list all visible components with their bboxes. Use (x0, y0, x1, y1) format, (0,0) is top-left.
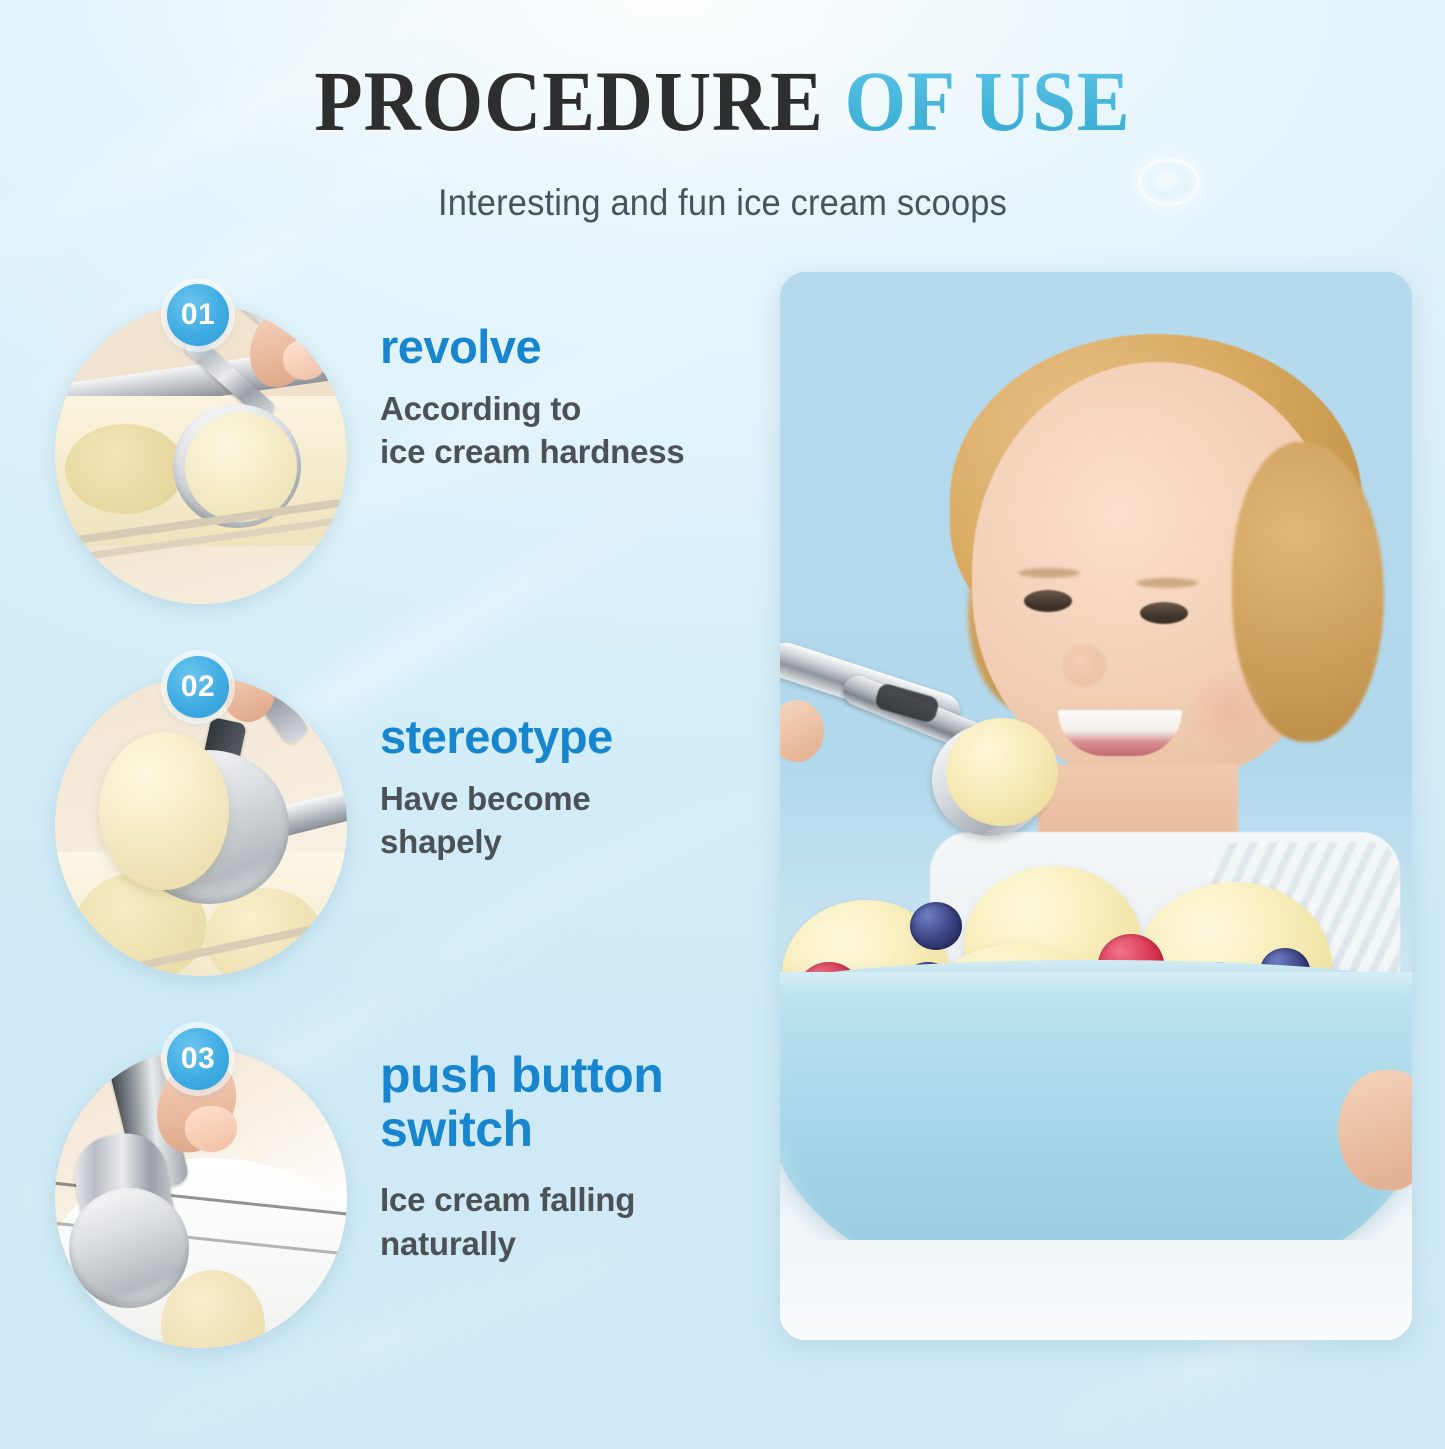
step-heading-03: push button switch (380, 1048, 760, 1156)
step-body-line: Ice cream falling (380, 1178, 760, 1222)
hero-blueberry (910, 902, 962, 950)
step-text-01: revolve According to ice cream hardness (380, 322, 760, 474)
step-item: 02 stereotype Have become shapely (0, 634, 770, 1006)
step-heading-01: revolve (380, 322, 760, 373)
step-badge-03: 03 (167, 1028, 229, 1090)
step-body-03: Ice cream falling naturally (380, 1178, 760, 1265)
steps-list: 01 revolve According to ice cream hardne… (0, 262, 770, 1378)
hero-scoop-ice-cream (946, 718, 1058, 826)
step-badge-02: 02 (167, 656, 229, 718)
step-item: 03 push button switch Ice cream falling … (0, 1006, 770, 1378)
step-heading-line: switch (380, 1102, 760, 1156)
infographic-canvas: PROCEDURE OF USE Interesting and fun ice… (0, 0, 1445, 1449)
hero-image-child-with-ice-cream (780, 272, 1412, 1340)
page-title: PROCEDURE OF USE (58, 58, 1387, 144)
step-heading-line: push button (380, 1048, 760, 1102)
step-body-line: ice cream hardness (380, 430, 760, 474)
step-badge-01: 01 (167, 284, 229, 346)
step-photo-stereotype (55, 676, 347, 976)
step-body-line: naturally (380, 1222, 760, 1266)
step-body-02: Have become shapely (380, 777, 760, 864)
hero-eye-left (1024, 590, 1072, 612)
page-title-blue: OF USE (844, 53, 1130, 149)
page-subtitle: Interesting and fun ice cream scoops (51, 182, 1395, 224)
step-item: 01 revolve According to ice cream hardne… (0, 262, 770, 634)
step-body-line: shapely (380, 820, 760, 864)
step-body-01: According to ice cream hardness (380, 387, 760, 474)
step-photo-wrapper: 01 (55, 304, 347, 604)
step-body-line: Have become (380, 777, 760, 821)
step-photo-wrapper: 02 (55, 676, 347, 976)
step-text-02: stereotype Have become shapely (380, 712, 760, 864)
step-photo-push-button-switch (55, 1048, 347, 1348)
step-photo-wrapper: 03 (55, 1048, 347, 1348)
hero-nose (1062, 644, 1106, 686)
step-heading-02: stereotype (380, 712, 760, 763)
step-body-line: According to (380, 387, 760, 431)
page-title-dark: PROCEDURE (314, 53, 823, 149)
step-photo-revolve (55, 304, 347, 604)
step-text-03: push button switch Ice cream falling nat… (380, 1048, 760, 1265)
hero-eye-right (1140, 602, 1188, 624)
